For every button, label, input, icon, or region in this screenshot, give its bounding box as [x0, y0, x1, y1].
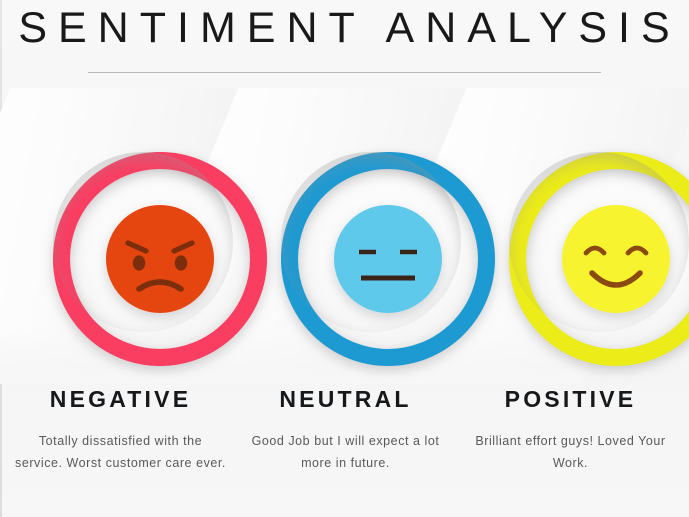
neutral-face-icon — [334, 205, 442, 313]
page-title-block: SENTIMENT ANALYSIS — [0, 6, 689, 51]
caption-group: NEGATIVE Totally dissatisfied with the s… — [0, 388, 689, 517]
panel-group — [0, 88, 689, 384]
category-description-positive: Brilliant effort guys! Loved Your Work. — [456, 431, 685, 475]
caption-column-positive: POSITIVE Brilliant effort guys! Loved Yo… — [456, 388, 685, 475]
happy-face-glyph — [562, 205, 670, 313]
title-divider-rule — [88, 72, 601, 73]
category-label-neutral: NEUTRAL — [231, 388, 460, 411]
angry-face-glyph — [106, 205, 214, 313]
happy-face-icon — [562, 205, 670, 313]
neutral-face-glyph — [334, 205, 442, 313]
category-label-negative: NEGATIVE — [6, 388, 235, 411]
category-description-negative: Totally dissatisfied with the service. W… — [6, 431, 235, 475]
caption-column-negative: NEGATIVE Totally dissatisfied with the s… — [6, 388, 235, 475]
angry-face-icon — [106, 205, 214, 313]
category-label-positive: POSITIVE — [456, 388, 685, 411]
caption-column-neutral: NEUTRAL Good Job but I will expect a lot… — [231, 388, 460, 475]
page-title: SENTIMENT ANALYSIS — [0, 6, 689, 51]
infographic-canvas: SENTIMENT ANALYSIS — [0, 0, 689, 517]
category-description-neutral: Good Job but I will expect a lot more in… — [231, 431, 460, 475]
